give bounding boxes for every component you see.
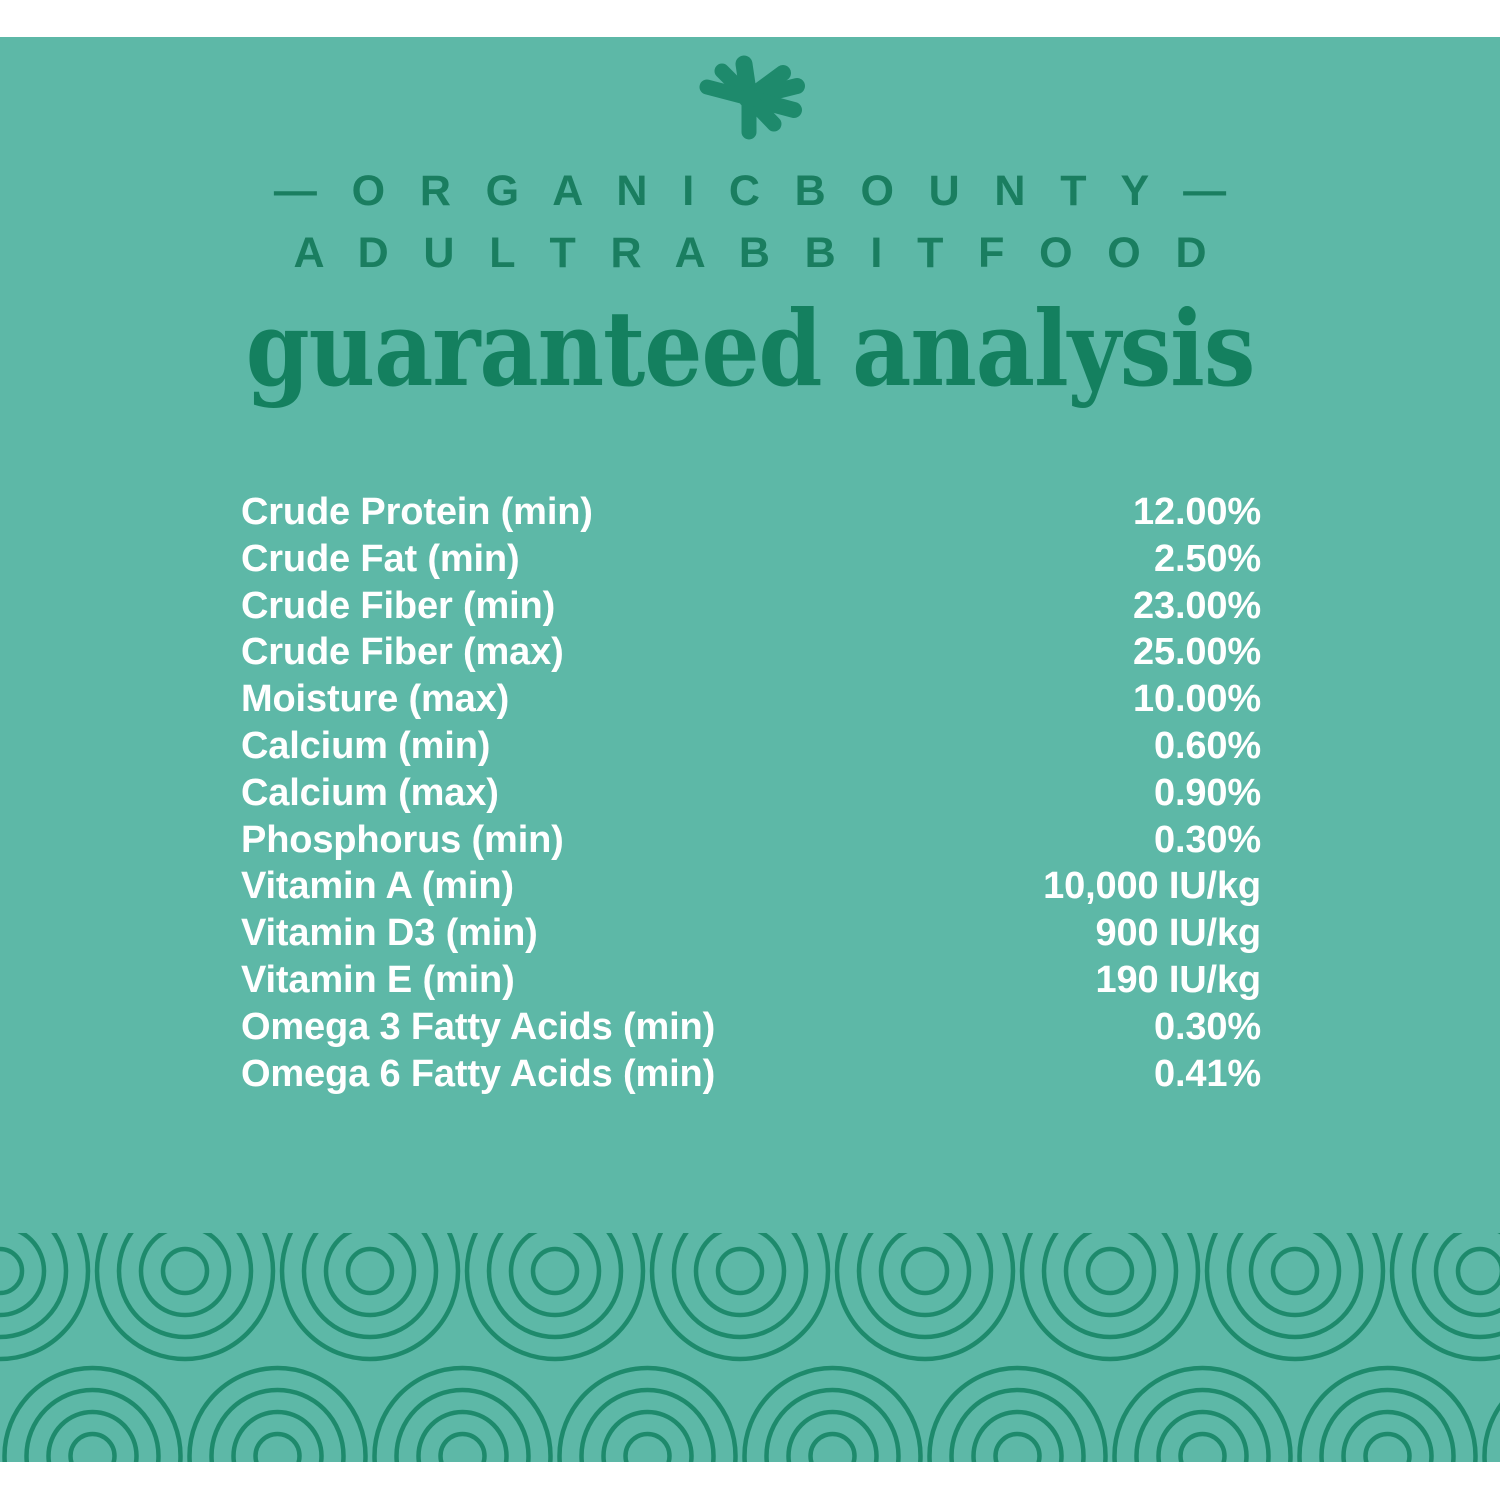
nutrient-value: 23.00% — [1133, 583, 1261, 630]
nutrient-value: 0.90% — [1154, 770, 1261, 817]
nutrient-name: Phosphorus (min) — [241, 817, 564, 864]
table-row: Crude Fat (min) 2.50% — [241, 536, 1261, 583]
table-row: Moisture (max) 10.00% — [241, 676, 1261, 723]
brand-eyebrow-product-type: A D U L T R A B B I T F O O D — [0, 229, 1500, 278]
nutrient-value: 10,000 IU/kg — [1043, 863, 1261, 910]
table-row: Crude Fiber (max) 25.00% — [241, 629, 1261, 676]
nutrient-name: Crude Fiber (min) — [241, 583, 555, 630]
sprout-leaf-icon — [0, 45, 1500, 150]
nutrient-value: 0.30% — [1154, 1004, 1261, 1051]
page-title: guaranteed analysis — [90, 297, 1410, 401]
nutrient-value: 12.00% — [1133, 489, 1261, 536]
table-row: Calcium (min) 0.60% — [241, 723, 1261, 770]
guaranteed-analysis-label-panel: — O R G A N I C B O U N T Y — A D U L T … — [0, 37, 1500, 1462]
table-row: Vitamin A (min) 10,000 IU/kg — [241, 863, 1261, 910]
nutrient-value: 2.50% — [1154, 536, 1261, 583]
brand-eyebrow-organic-bounty: — O R G A N I C B O U N T Y — — [0, 167, 1500, 216]
nutrient-value: 0.30% — [1154, 817, 1261, 864]
nutrient-value: 25.00% — [1133, 629, 1261, 676]
nutrient-name: Crude Fiber (max) — [241, 629, 564, 676]
concentric-circles-pattern — [0, 1233, 1500, 1462]
nutrient-value: 190 IU/kg — [1096, 957, 1262, 1004]
table-row: Phosphorus (min) 0.30% — [241, 817, 1261, 864]
nutrient-name: Moisture (max) — [241, 676, 509, 723]
nutrient-value: 10.00% — [1133, 676, 1261, 723]
nutrient-name: Vitamin E (min) — [241, 957, 515, 1004]
table-row: Crude Protein (min) 12.00% — [241, 489, 1261, 536]
table-row: Omega 6 Fatty Acids (min) 0.41% — [241, 1051, 1261, 1098]
nutrient-name: Omega 6 Fatty Acids (min) — [241, 1051, 715, 1098]
nutrient-name: Calcium (max) — [241, 770, 499, 817]
nutrient-name: Calcium (min) — [241, 723, 490, 770]
nutrient-name: Omega 3 Fatty Acids (min) — [241, 1004, 715, 1051]
nutrient-value: 0.60% — [1154, 723, 1261, 770]
nutrient-value: 0.41% — [1154, 1051, 1261, 1098]
nutrient-name: Vitamin A (min) — [241, 863, 514, 910]
table-row: Crude Fiber (min) 23.00% — [241, 583, 1261, 630]
nutrient-name: Crude Protein (min) — [241, 489, 593, 536]
table-row: Omega 3 Fatty Acids (min) 0.30% — [241, 1004, 1261, 1051]
nutrient-value: 900 IU/kg — [1096, 910, 1262, 957]
table-row: Calcium (max) 0.90% — [241, 770, 1261, 817]
table-row: Vitamin E (min) 190 IU/kg — [241, 957, 1261, 1004]
nutrient-name: Crude Fat (min) — [241, 536, 520, 583]
nutrient-name: Vitamin D3 (min) — [241, 910, 538, 957]
table-row: Vitamin D3 (min) 900 IU/kg — [241, 910, 1261, 957]
guaranteed-analysis-table: Crude Protein (min) 12.00% Crude Fat (mi… — [241, 489, 1261, 1097]
